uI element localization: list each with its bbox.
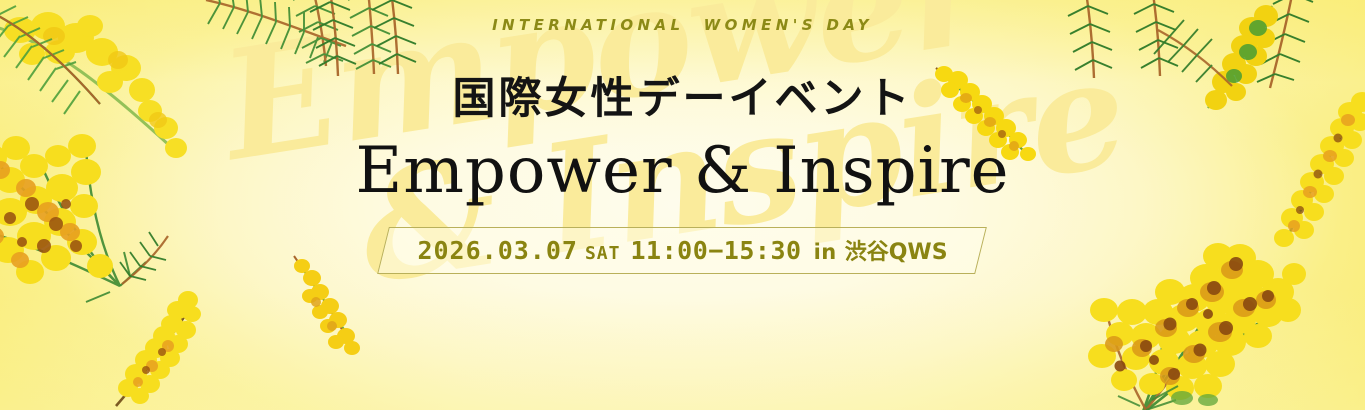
event-time: 11:00−15:30 (630, 236, 801, 265)
event-date-badge: 2026.03.07 SAT 11:00−15:30 in 渋谷QWS (383, 227, 981, 274)
event-preposition: in (814, 240, 837, 264)
event-venue: 渋谷QWS (845, 234, 948, 266)
eyebrow-text: INTERNATIONAL WOMEN'S DAY (492, 16, 873, 34)
banner-content: INTERNATIONAL WOMEN'S DAY 国際女性デーイベント Emp… (0, 0, 1365, 410)
event-date-text: 2026.03.07 SAT 11:00−15:30 in 渋谷QWS (417, 234, 947, 266)
event-banner: Empower & Inspire (0, 0, 1365, 410)
event-day-of-week: SAT (585, 243, 621, 264)
japanese-title: 国際女性デーイベント (453, 78, 913, 121)
event-date: 2026.03.07 (417, 236, 578, 265)
page-title: Empower & Inspire (355, 138, 1009, 205)
